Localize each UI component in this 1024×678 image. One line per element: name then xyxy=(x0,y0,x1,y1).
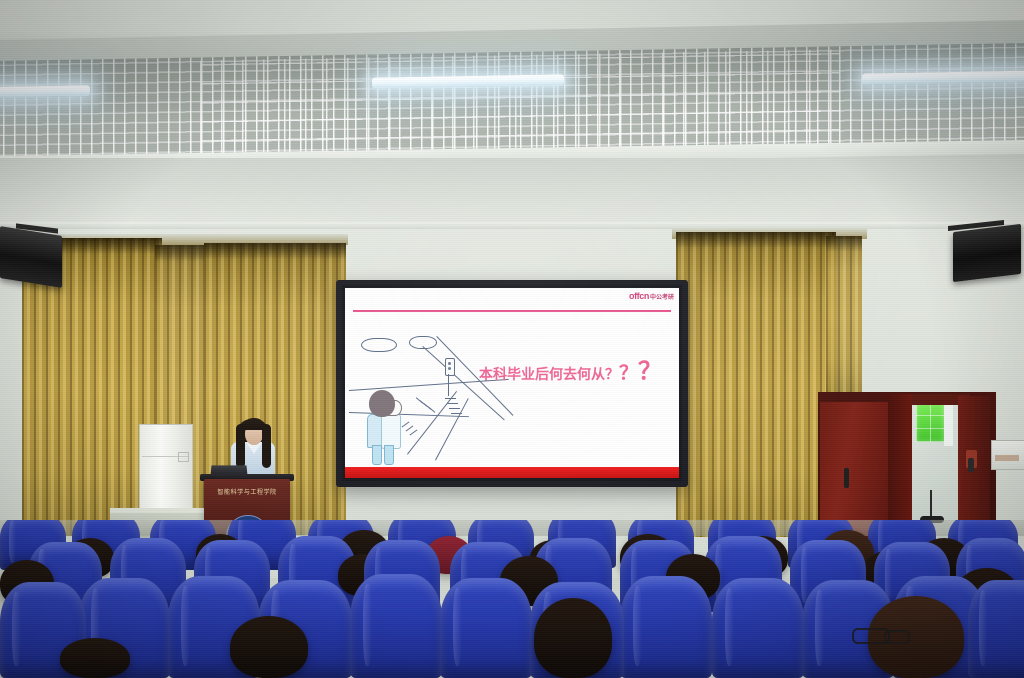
slide-divider-line xyxy=(353,310,671,312)
slide-headline-text: 本科毕业后何去何从？ xyxy=(479,366,619,382)
auditorium-seat xyxy=(350,574,442,678)
fluorescent-tube-left-icon xyxy=(0,85,90,98)
slide-question-mark-2: ？ xyxy=(638,358,662,385)
audience-member-head xyxy=(60,638,130,678)
cartoon-person-leg-right xyxy=(384,445,394,465)
presenter-hair-left xyxy=(236,424,245,468)
offcn-logo-sub: 中公考研 xyxy=(650,292,674,301)
lecture-hall-photo: offcn 中公考研 xyxy=(0,0,1024,678)
traffic-light-pole xyxy=(448,374,449,396)
slide-headline: 本科毕业后何去何从？？？ xyxy=(479,351,662,386)
audience-seating-area xyxy=(0,520,1024,678)
slide-question-mark-1: ？ xyxy=(619,363,638,384)
crosswalk-stripe xyxy=(410,429,418,435)
storage-cabinet xyxy=(139,424,193,512)
door-handle-right-icon[interactable] xyxy=(968,458,974,472)
crosswalk-stripe xyxy=(406,425,414,431)
cabinet-handle-icon[interactable] xyxy=(178,452,189,462)
crosswalk-stripe xyxy=(451,413,462,414)
cartoon-person-coat xyxy=(381,414,401,449)
crosswalk-stripe xyxy=(428,406,436,413)
traffic-light-icon xyxy=(445,358,455,376)
eyeglasses-icon-2 xyxy=(884,630,910,644)
cloud-icon-1 xyxy=(361,338,397,352)
cartoon-person-head xyxy=(369,390,395,417)
slide-bottom-bar xyxy=(345,467,679,478)
crosswalk-stripe xyxy=(449,408,460,409)
crosswalk-stripe xyxy=(402,421,410,427)
wall-shading xyxy=(0,158,1024,228)
door-handle-left-icon[interactable] xyxy=(844,468,849,488)
corridor-window-grid xyxy=(916,402,944,442)
wall-speaker-left-icon xyxy=(0,226,62,288)
corridor-light-strip xyxy=(944,400,953,446)
corridor-mic-stand xyxy=(930,490,932,518)
auditorium-seat xyxy=(712,578,804,678)
crosswalk-stripe xyxy=(445,398,456,399)
audience-member-head xyxy=(534,598,612,678)
curtain-right xyxy=(676,232,836,537)
wall-cornice xyxy=(0,222,1024,229)
offcn-logo-main: offcn xyxy=(629,291,649,301)
auditorium-seat xyxy=(440,578,532,678)
wall-box-label xyxy=(995,455,1019,461)
auditorium-seat xyxy=(968,580,1024,678)
presentation-slide: offcn 中公考研 xyxy=(345,288,679,478)
crosswalk-stripe xyxy=(447,403,458,404)
auditorium-seat xyxy=(620,576,712,678)
lectern-sign-text: 智能科学与工程学院 xyxy=(208,487,286,496)
offcn-logo: offcn 中公考研 xyxy=(629,291,674,301)
cartoon-person-leg-left xyxy=(372,445,382,465)
wall-speaker-right-icon xyxy=(953,224,1021,282)
slide-illustration xyxy=(349,328,489,463)
curtain-right-inner xyxy=(826,236,862,396)
road-line-5 xyxy=(407,391,457,455)
audience-member-head xyxy=(230,616,308,678)
presenter-hair-right xyxy=(262,424,271,468)
